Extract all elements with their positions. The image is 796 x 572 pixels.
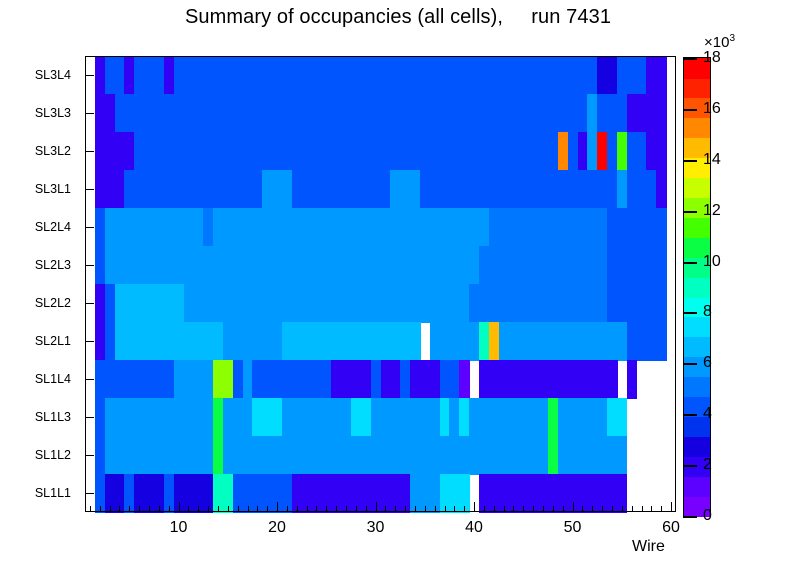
z-axis-tick bbox=[683, 516, 697, 518]
y-axis-tick bbox=[85, 303, 94, 304]
z-axis-tick-label: 10 bbox=[703, 254, 721, 270]
x-axis-tick-minor bbox=[110, 506, 111, 512]
heatmap-cells bbox=[85, 56, 676, 512]
color-scale-band bbox=[684, 78, 710, 99]
x-axis-tick-minor bbox=[523, 506, 524, 512]
y-axis-label: SL2L2 bbox=[35, 297, 71, 310]
x-axis-tick-minor bbox=[395, 506, 396, 512]
x-axis-tick-minor bbox=[169, 506, 170, 512]
y-axis-tick bbox=[85, 417, 94, 418]
heatmap-cell bbox=[656, 322, 667, 361]
x-axis-tick-minor bbox=[405, 506, 406, 512]
y-axis-tick bbox=[85, 227, 94, 228]
z-axis-tick bbox=[683, 58, 697, 60]
x-axis-tick-label: 30 bbox=[346, 519, 406, 537]
heatmap-cell bbox=[410, 322, 421, 361]
x-axis-tick-label: 60 bbox=[641, 519, 701, 537]
x-axis-tick-minor bbox=[642, 506, 643, 512]
x-axis-tick-minor bbox=[553, 506, 554, 512]
x-axis-tick-minor bbox=[366, 506, 367, 512]
y-axis-tick bbox=[85, 455, 94, 456]
y-axis-label: SL2L3 bbox=[35, 259, 71, 272]
x-axis-tick-minor bbox=[632, 506, 633, 512]
y-axis-tick bbox=[85, 341, 94, 342]
z-axis-tick-label: 12 bbox=[703, 203, 721, 219]
color-scale-band bbox=[684, 217, 710, 238]
y-axis-tick bbox=[85, 189, 94, 190]
x-axis-tick-minor bbox=[582, 506, 583, 512]
y-axis-label: SL1L3 bbox=[35, 411, 71, 424]
x-axis-tick-minor bbox=[622, 506, 623, 512]
color-scale-bar bbox=[683, 57, 711, 517]
x-axis-tick-minor bbox=[513, 506, 514, 512]
z-axis-tick-label: 18 bbox=[703, 50, 721, 66]
x-axis-tick-minor bbox=[228, 506, 229, 512]
z-multiplier-base: ×10 bbox=[704, 34, 729, 51]
y-axis-label: SL3L1 bbox=[35, 183, 71, 196]
x-axis-tick-minor bbox=[464, 506, 465, 512]
x-axis-tick-minor bbox=[267, 506, 268, 512]
heatmap-cell bbox=[617, 436, 628, 475]
x-axis-tick-minor bbox=[484, 506, 485, 512]
y-axis-labels: SL3L4SL3L3SL3L2SL3L1SL2L4SL2L3SL2L2SL2L1… bbox=[0, 56, 79, 512]
heatmap-cell bbox=[656, 208, 667, 247]
heatmap-cell bbox=[617, 398, 628, 437]
x-axis-tick-minor bbox=[188, 506, 189, 512]
x-axis-tick-minor bbox=[100, 506, 101, 512]
z-axis-tick-label: 6 bbox=[703, 355, 712, 371]
y-axis-label: SL2L1 bbox=[35, 335, 71, 348]
x-axis-tick-minor bbox=[445, 506, 446, 512]
x-axis-tick-minor bbox=[543, 506, 544, 512]
x-axis-tick-minor bbox=[208, 506, 209, 512]
z-axis-tick-label: 2 bbox=[703, 457, 712, 473]
x-axis-tick-minor bbox=[297, 506, 298, 512]
x-axis-tick-minor bbox=[651, 506, 652, 512]
x-axis-tick-minor bbox=[533, 506, 534, 512]
heatmap-cell bbox=[607, 360, 618, 399]
y-axis-tick bbox=[85, 379, 94, 380]
x-axis-tick-minor bbox=[90, 506, 91, 512]
z-axis-tick bbox=[683, 109, 697, 111]
y-axis-label: SL1L1 bbox=[35, 487, 71, 500]
x-axis-tick-minor bbox=[139, 506, 140, 512]
x-axis-tick-label: 10 bbox=[149, 519, 209, 537]
color-scale-band bbox=[684, 476, 710, 497]
x-axis-tick-minor bbox=[129, 506, 130, 512]
heatmap-cell bbox=[656, 56, 667, 95]
heatmap-plot[interactable] bbox=[85, 56, 676, 512]
x-axis-title: Wire bbox=[632, 538, 665, 556]
x-axis-tick-major bbox=[277, 502, 278, 512]
x-axis-tick-minor bbox=[159, 506, 160, 512]
x-axis-tick-minor bbox=[316, 506, 317, 512]
z-axis-tick bbox=[683, 211, 697, 213]
z-axis-tick bbox=[683, 414, 697, 416]
x-axis-tick-major bbox=[179, 502, 180, 512]
x-axis-tick-minor bbox=[661, 506, 662, 512]
page-title: Summary of occupancies (all cells), run … bbox=[0, 6, 796, 29]
y-axis-tick bbox=[85, 265, 94, 266]
z-axis-tick-label: 4 bbox=[703, 406, 712, 422]
x-axis-tick-major bbox=[671, 502, 672, 512]
x-axis-tick-minor bbox=[612, 506, 613, 512]
color-scale-band bbox=[684, 377, 710, 398]
z-axis-tick bbox=[683, 363, 697, 365]
z-axis-tick bbox=[683, 160, 697, 162]
x-axis-tick-minor bbox=[326, 506, 327, 512]
x-axis-tick-major bbox=[376, 502, 377, 512]
x-axis-tick-minor bbox=[119, 506, 120, 512]
x-axis-tick-minor bbox=[602, 506, 603, 512]
color-scale-band bbox=[684, 277, 710, 298]
color-scale-band bbox=[684, 177, 710, 198]
x-axis-tick-minor bbox=[494, 506, 495, 512]
x-axis-tick-minor bbox=[257, 506, 258, 512]
y-axis-label: SL1L2 bbox=[35, 449, 71, 462]
y-axis-tick bbox=[85, 75, 94, 76]
x-axis-tick-minor bbox=[149, 506, 150, 512]
z-axis-multiplier: ×103 bbox=[704, 33, 735, 51]
heatmap-cell bbox=[627, 360, 638, 399]
heatmap-cell bbox=[656, 170, 667, 209]
x-axis-tick-minor bbox=[218, 506, 219, 512]
heatmap-cell bbox=[656, 246, 667, 285]
heatmap-cell bbox=[656, 132, 667, 171]
z-axis-tick bbox=[683, 312, 697, 314]
z-multiplier-exponent: 3 bbox=[729, 33, 735, 44]
x-axis-tick-major bbox=[474, 502, 475, 512]
z-axis-tick bbox=[683, 262, 697, 264]
x-axis-tick-label: 40 bbox=[444, 519, 504, 537]
y-axis-tick bbox=[85, 493, 94, 494]
x-axis-tick-minor bbox=[504, 506, 505, 512]
z-axis-tick-label: 0 bbox=[703, 508, 712, 524]
z-axis-tick bbox=[683, 465, 697, 467]
y-axis-tick bbox=[85, 113, 94, 114]
y-axis-label: SL3L3 bbox=[35, 107, 71, 120]
x-axis-tick-minor bbox=[356, 506, 357, 512]
z-axis-tick-label: 8 bbox=[703, 304, 712, 320]
x-axis-tick-label: 20 bbox=[247, 519, 307, 537]
x-axis-tick-minor bbox=[592, 506, 593, 512]
y-axis-label: SL3L2 bbox=[35, 145, 71, 158]
x-axis-tick-minor bbox=[346, 506, 347, 512]
y-axis-label: SL2L4 bbox=[35, 221, 71, 234]
x-axis-tick-minor bbox=[238, 506, 239, 512]
y-axis-label: SL1L4 bbox=[35, 373, 71, 386]
x-axis-tick-minor bbox=[248, 506, 249, 512]
z-axis-tick-label: 16 bbox=[703, 101, 721, 117]
x-axis-tick-minor bbox=[287, 506, 288, 512]
x-axis-tick-minor bbox=[425, 506, 426, 512]
color-scale-band bbox=[684, 436, 710, 457]
x-axis-tick-minor bbox=[307, 506, 308, 512]
heatmap-cell bbox=[459, 360, 470, 399]
x-axis-labels: 102030405060 bbox=[0, 516, 796, 546]
color-scale-band bbox=[684, 118, 710, 139]
y-axis-tick bbox=[85, 151, 94, 152]
x-axis-tick-label: 50 bbox=[543, 519, 603, 537]
x-axis-tick-minor bbox=[415, 506, 416, 512]
y-axis-label: SL3L4 bbox=[35, 69, 71, 82]
z-axis-tick-label: 14 bbox=[703, 152, 721, 168]
x-axis-tick-major bbox=[573, 502, 574, 512]
x-axis-tick-minor bbox=[385, 506, 386, 512]
x-axis-tick-minor bbox=[336, 506, 337, 512]
heatmap-cell bbox=[656, 284, 667, 323]
x-axis-tick-minor bbox=[435, 506, 436, 512]
x-axis-tick-minor bbox=[454, 506, 455, 512]
x-axis-tick-minor bbox=[563, 506, 564, 512]
x-axis-tick-minor bbox=[198, 506, 199, 512]
heatmap-cell bbox=[656, 94, 667, 133]
